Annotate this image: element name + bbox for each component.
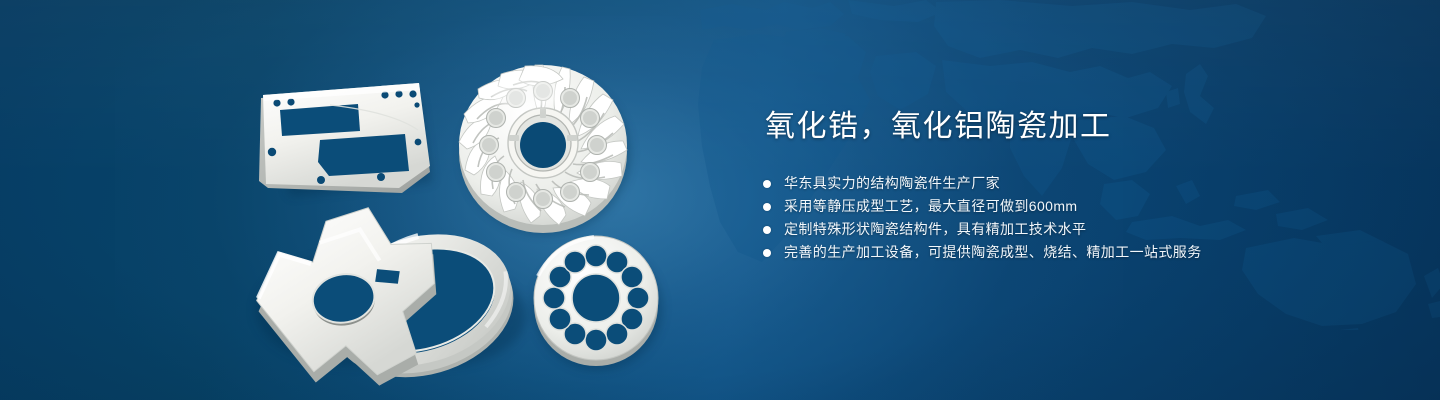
ceramic-hole-disc [534, 236, 658, 366]
ceramic-plate [259, 83, 430, 193]
feature-list: 华东具实力的结构陶瓷件生产厂家 采用等静压成型工艺，最大直径可做到600mm 定… [763, 172, 1383, 264]
ceramic-products-image [0, 0, 760, 400]
list-item: 采用等静压成型工艺，最大直径可做到600mm [763, 195, 1383, 218]
banner-copy: 氧化锆，氧化铝陶瓷加工 华东具实力的结构陶瓷件生产厂家 采用等静压成型工艺，最大… [763, 108, 1383, 264]
bullet-dot-icon [763, 226, 771, 234]
list-item: 定制特殊形状陶瓷结构件，具有精加工技术水平 [763, 218, 1383, 241]
list-item: 完善的生产加工设备，可提供陶瓷成型、烧结、精加工一站式服务 [763, 241, 1383, 264]
bullet-dot-icon [763, 180, 771, 188]
promo-banner: 氧化锆，氧化铝陶瓷加工 华东具实力的结构陶瓷件生产厂家 采用等静压成型工艺，最大… [0, 0, 1440, 400]
list-item: 华东具实力的结构陶瓷件生产厂家 [763, 172, 1383, 195]
page-title: 氧化锆，氧化铝陶瓷加工 [765, 108, 1383, 146]
list-item-label: 定制特殊形状陶瓷结构件，具有精加工技术水平 [784, 221, 1086, 237]
list-item-label: 完善的生产加工设备，可提供陶瓷成型、烧结、精加工一站式服务 [784, 244, 1202, 260]
list-item-label: 采用等静压成型工艺，最大直径可做到600mm [784, 198, 1077, 214]
bullet-dot-icon [763, 203, 771, 211]
ceramic-impeller [459, 65, 627, 233]
bullet-dot-icon [763, 249, 771, 257]
list-item-label: 华东具实力的结构陶瓷件生产厂家 [784, 175, 1000, 191]
